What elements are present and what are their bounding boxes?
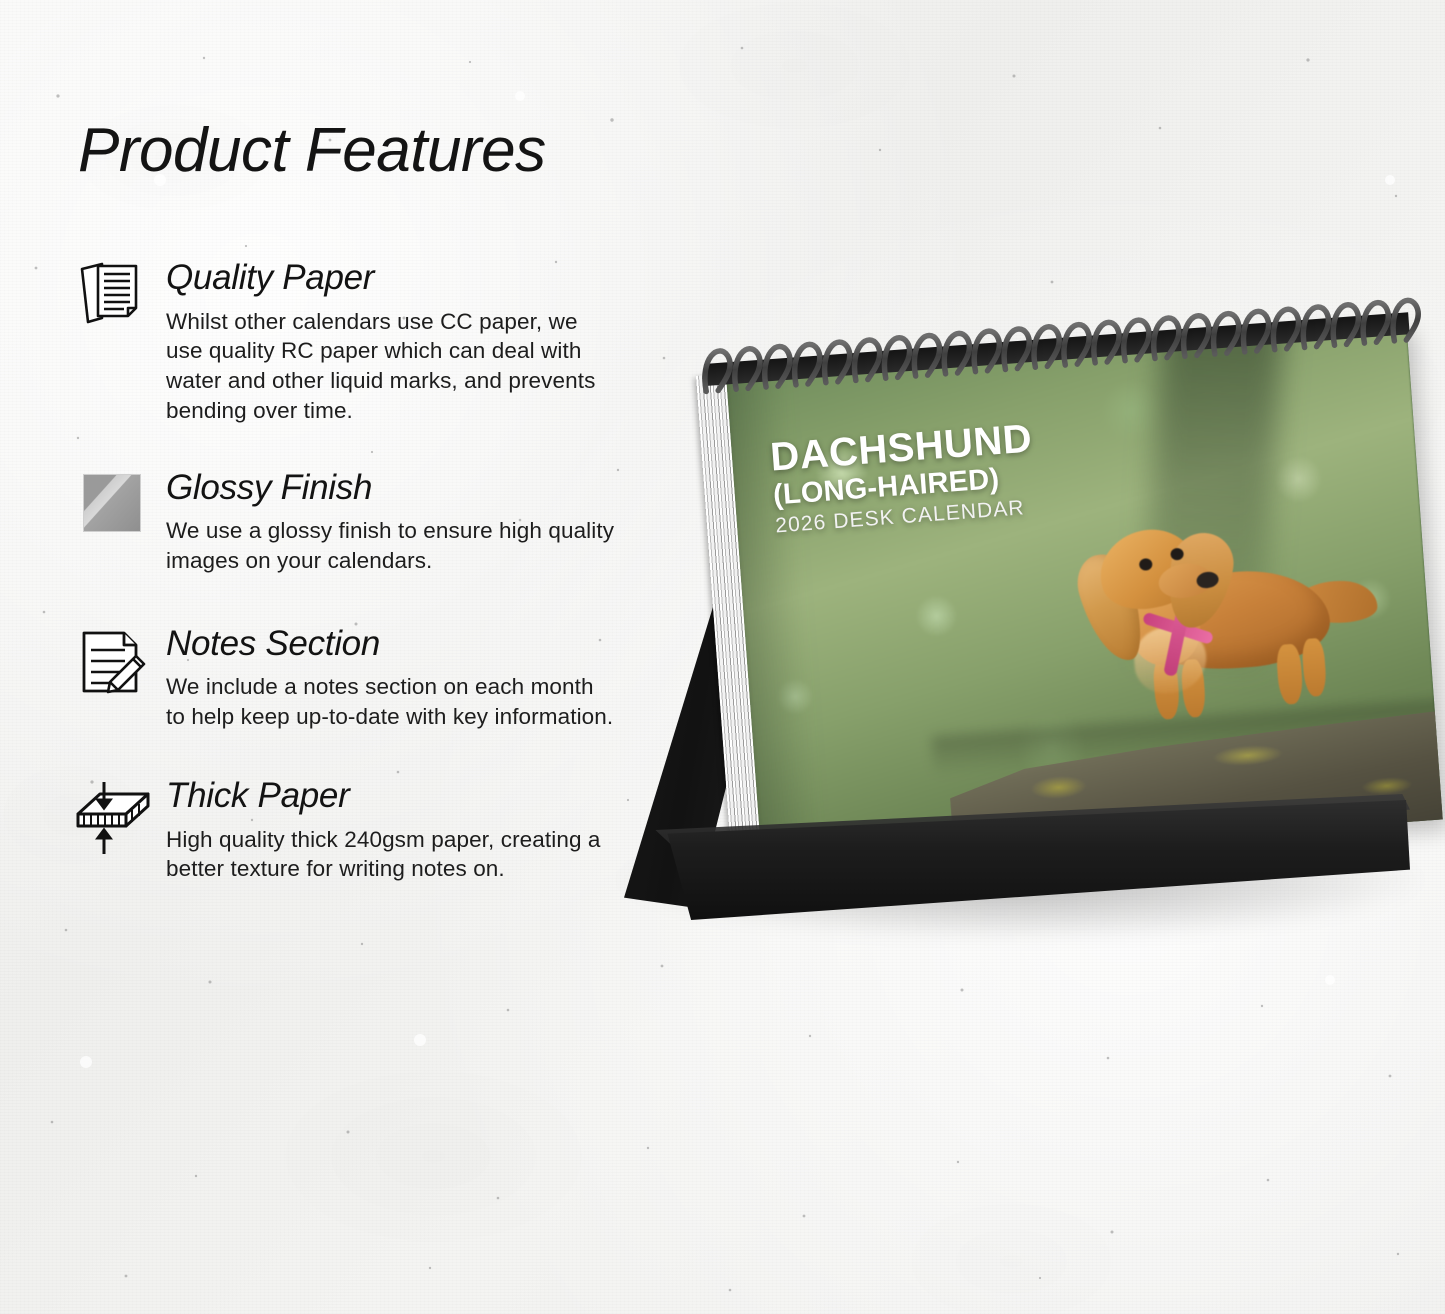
- product-features-page: Product Features: [0, 0, 1445, 1314]
- page-title: Product Features: [78, 120, 638, 182]
- feature-description: Whilst other calendars use CC paper, we …: [166, 307, 616, 426]
- feature-title: Glossy Finish: [166, 470, 638, 507]
- feature-title: Thick Paper: [166, 778, 638, 815]
- feature-item-glossy-finish: Glossy Finish We use a glossy finish to …: [78, 470, 638, 576]
- feature-description: We include a notes section on each month…: [166, 672, 616, 731]
- note-pencil-icon: [78, 628, 170, 718]
- feature-text-glossy-finish: Glossy Finish We use a glossy finish to …: [166, 470, 638, 576]
- feature-item-thick-paper: Thick Paper High quality thick 240gsm pa…: [78, 778, 638, 884]
- feature-item-notes-section: Notes Section We include a notes section…: [78, 626, 638, 732]
- dog-back-leg-right: [1301, 638, 1327, 697]
- feature-text-thick-paper: Thick Paper High quality thick 240gsm pa…: [166, 778, 638, 884]
- feature-description: High quality thick 240gsm paper, creatin…: [166, 825, 616, 884]
- gloss-swatch-shape: [83, 474, 141, 532]
- thick-paper-slab-icon: [74, 780, 166, 870]
- features-column: Product Features: [78, 120, 638, 918]
- product-mockup: DACHSHUND (LONG-HAIRED) 2026 DESK CALEND…: [600, 300, 1440, 1020]
- feature-title: Notes Section: [166, 626, 638, 663]
- feature-text-notes-section: Notes Section We include a notes section…: [166, 626, 638, 732]
- stacked-paper-icon: [78, 260, 170, 350]
- cover-photo-dachshund: [1070, 504, 1388, 775]
- feature-description: We use a glossy finish to ensure high qu…: [166, 516, 616, 575]
- glossy-swatch-icon: [83, 474, 175, 564]
- feature-title: Quality Paper: [166, 260, 638, 297]
- calendar-cover-card: DACHSHUND (LONG-HAIRED) 2026 DESK CALEND…: [708, 321, 1443, 871]
- feature-text-quality-paper: Quality Paper Whilst other calendars use…: [166, 260, 638, 426]
- feature-item-quality-paper: Quality Paper Whilst other calendars use…: [78, 260, 638, 426]
